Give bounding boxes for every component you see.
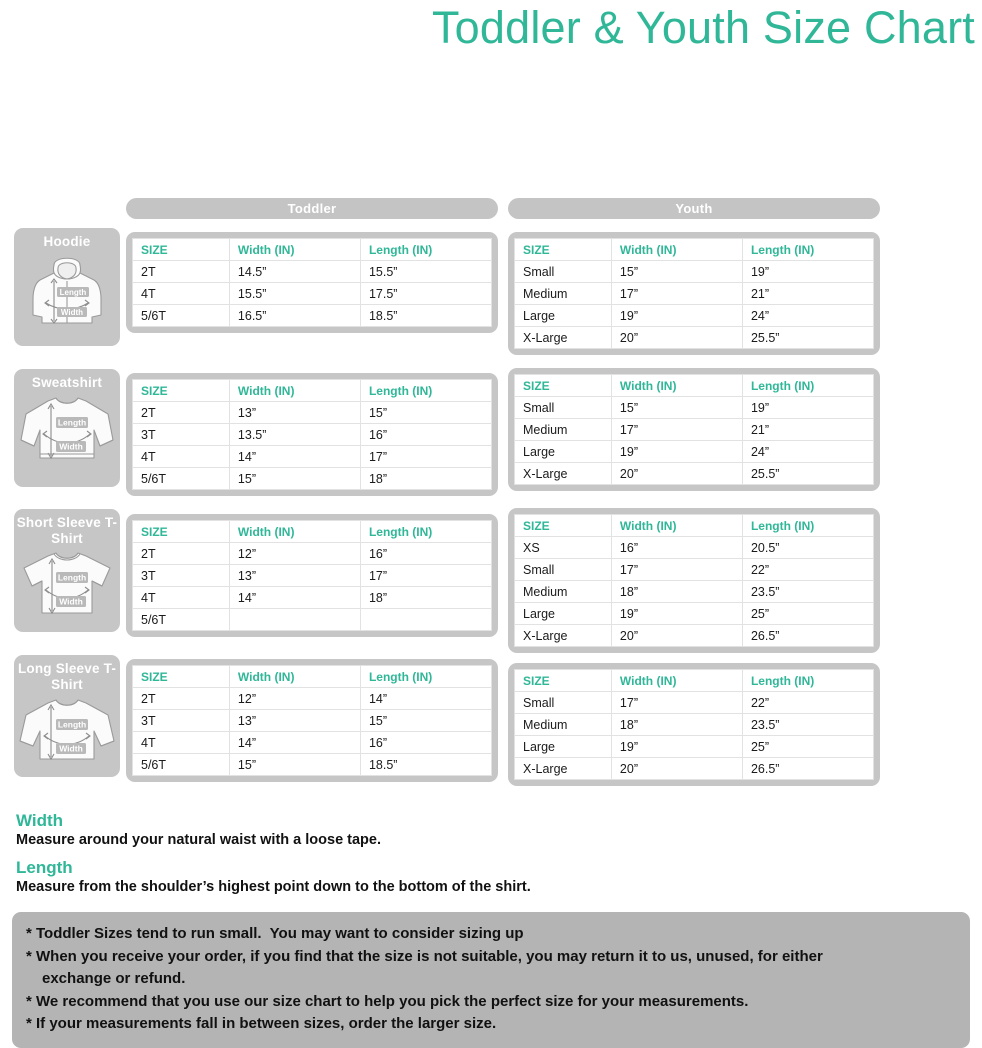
note-item: * We recommend that you use our size cha…: [26, 991, 956, 1014]
cell-length: 19”: [742, 261, 873, 283]
column-header-size: SIZE: [133, 380, 230, 402]
cell-width: 17”: [611, 559, 742, 581]
svg-text:Width: Width: [59, 744, 83, 754]
size-table-youth: SIZEWidth (IN)Length (IN)XS16”20.5”Small…: [514, 514, 874, 647]
column-header-size: SIZE: [133, 666, 230, 688]
cell-width: 15”: [229, 468, 360, 490]
table-row: 4T14”17”: [133, 446, 492, 468]
garment-tile: Long Sleeve T-Shirt Length Width: [14, 655, 120, 777]
column-header-width: Width (IN): [611, 239, 742, 261]
column-header-width: Width (IN): [229, 521, 360, 543]
table-row: Small17”22”: [515, 559, 874, 581]
table-row: Medium18”23.5”: [515, 581, 874, 603]
cell-size: Medium: [515, 714, 612, 736]
cell-width: 13.5”: [229, 424, 360, 446]
size-table-toddler: SIZEWidth (IN)Length (IN)2T14.5”15.5”4T1…: [132, 238, 492, 327]
cell-size: Large: [515, 736, 612, 758]
garment-tile: Sweatshirt Length Width: [14, 369, 120, 487]
cell-size: Large: [515, 441, 612, 463]
size-table-toddler: SIZEWidth (IN)Length (IN)2T13”15”3T13.5”…: [132, 379, 492, 490]
column-header-length: Length (IN): [742, 375, 873, 397]
cell-width: 19”: [611, 603, 742, 625]
size-table-youth: SIZEWidth (IN)Length (IN)Small15”19”Medi…: [514, 374, 874, 485]
cell-size: Large: [515, 603, 612, 625]
cell-size: XS: [515, 537, 612, 559]
page-title: Toddler & Youth Size Chart: [0, 2, 975, 54]
svg-text:Width: Width: [59, 597, 83, 607]
column-header-size: SIZE: [133, 239, 230, 261]
hoodie-icon: Length Width: [24, 251, 110, 327]
toddler-table-panel: SIZEWidth (IN)Length (IN)2T12”16”3T13”17…: [126, 514, 498, 637]
table-row: Medium17”21”: [515, 419, 874, 441]
youth-table-panel: SIZEWidth (IN)Length (IN)Small15”19”Medi…: [508, 368, 880, 491]
sweatshirt-icon: Length Width: [18, 392, 116, 464]
cell-size: 5/6T: [133, 468, 230, 490]
column-header-length: Length (IN): [742, 515, 873, 537]
cell-width: 14”: [229, 732, 360, 754]
svg-text:Width: Width: [61, 308, 83, 317]
cell-size: 4T: [133, 283, 230, 305]
table-row: Small15”19”: [515, 397, 874, 419]
cell-size: 4T: [133, 587, 230, 609]
cell-length: 17”: [360, 565, 491, 587]
table-row: 2T12”16”: [133, 543, 492, 565]
svg-text:Length: Length: [58, 418, 86, 428]
cell-width: 12”: [229, 688, 360, 710]
cell-length: 15”: [360, 710, 491, 732]
cell-length: [360, 609, 491, 631]
note-item: * When you receive your order, if you fi…: [26, 946, 956, 969]
cell-width: [229, 609, 360, 631]
cell-width: 16”: [611, 537, 742, 559]
cell-length: 23.5”: [742, 714, 873, 736]
table-row: Medium17”21”: [515, 283, 874, 305]
column-header-size: SIZE: [515, 670, 612, 692]
cell-width: 20”: [611, 758, 742, 780]
table-row: X-Large20”25.5”: [515, 327, 874, 349]
table-row: Large19”25”: [515, 603, 874, 625]
table-row: 3T13”15”: [133, 710, 492, 732]
column-header-length: Length (IN): [742, 670, 873, 692]
column-header-width: Width (IN): [229, 380, 360, 402]
cell-length: 21”: [742, 283, 873, 305]
cell-width: 19”: [611, 736, 742, 758]
cell-length: 22”: [742, 559, 873, 581]
cell-length: 25.5”: [742, 463, 873, 485]
cell-width: 18”: [611, 714, 742, 736]
cell-size: 4T: [133, 732, 230, 754]
cell-size: Medium: [515, 283, 612, 305]
cell-length: 24”: [742, 305, 873, 327]
size-table-youth: SIZEWidth (IN)Length (IN)Small17”22”Medi…: [514, 669, 874, 780]
column-header-width: Width (IN): [611, 670, 742, 692]
cell-size: 3T: [133, 710, 230, 732]
cell-size: Medium: [515, 419, 612, 441]
cell-length: 25”: [742, 603, 873, 625]
cell-width: 15”: [611, 397, 742, 419]
garment-name: Hoodie: [14, 232, 120, 250]
table-row: Small15”19”: [515, 261, 874, 283]
garment-name: Short Sleeve T-Shirt: [14, 513, 120, 547]
column-header-width: Width (IN): [229, 666, 360, 688]
column-header-width: Width (IN): [611, 515, 742, 537]
cell-width: 14”: [229, 587, 360, 609]
cell-size: Medium: [515, 581, 612, 603]
column-header-size: SIZE: [515, 515, 612, 537]
garment-tile: Hoodie Length Width: [14, 228, 120, 346]
table-row: Large19”24”: [515, 305, 874, 327]
table-row: 5/6T16.5”18.5”: [133, 305, 492, 327]
column-header-width: Width (IN): [611, 375, 742, 397]
garment-tile: Short Sleeve T-Shirt Length Width: [14, 509, 120, 632]
cell-length: 18”: [360, 468, 491, 490]
cell-size: 5/6T: [133, 305, 230, 327]
table-row: X-Large20”26.5”: [515, 625, 874, 647]
table-row: XS16”20.5”: [515, 537, 874, 559]
cell-length: 16”: [360, 543, 491, 565]
garment-name: Long Sleeve T-Shirt: [14, 659, 120, 693]
cell-size: 5/6T: [133, 754, 230, 776]
cell-width: 16.5”: [229, 305, 360, 327]
cell-width: 13”: [229, 402, 360, 424]
size-table-toddler: SIZEWidth (IN)Length (IN)2T12”14”3T13”15…: [132, 665, 492, 776]
table-row: Large19”25”: [515, 736, 874, 758]
cell-size: X-Large: [515, 327, 612, 349]
svg-text:Width: Width: [59, 442, 83, 452]
cell-length: 23.5”: [742, 581, 873, 603]
cell-length: 24”: [742, 441, 873, 463]
column-header-length: Length (IN): [360, 521, 491, 543]
cell-length: 15.5”: [360, 261, 491, 283]
cell-length: 18.5”: [360, 754, 491, 776]
column-header-length: Length (IN): [360, 380, 491, 402]
cell-size: Small: [515, 397, 612, 419]
cell-width: 17”: [611, 692, 742, 714]
table-row: 3T13.5”16”: [133, 424, 492, 446]
garment-name: Sweatshirt: [14, 373, 120, 391]
cell-width: 15”: [229, 754, 360, 776]
column-header-width: Width (IN): [229, 239, 360, 261]
cell-size: Small: [515, 692, 612, 714]
definition-term: Length: [16, 857, 836, 878]
cell-length: 19”: [742, 397, 873, 419]
cell-width: 20”: [611, 463, 742, 485]
cell-length: 26.5”: [742, 625, 873, 647]
cell-length: 22”: [742, 692, 873, 714]
cell-width: 15”: [611, 261, 742, 283]
measurement-definitions: Width Measure around your natural waist …: [16, 810, 836, 904]
footer-notes: * Toddler Sizes tend to run small. You m…: [12, 912, 970, 1048]
cell-size: 5/6T: [133, 609, 230, 631]
column-header-length: Length (IN): [360, 239, 491, 261]
cell-length: 18.5”: [360, 305, 491, 327]
size-table-youth: SIZEWidth (IN)Length (IN)Small15”19”Medi…: [514, 238, 874, 349]
svg-text:Length: Length: [58, 720, 86, 730]
cell-size: 2T: [133, 261, 230, 283]
cell-length: 17.5”: [360, 283, 491, 305]
table-row: 2T12”14”: [133, 688, 492, 710]
youth-table-panel: SIZEWidth (IN)Length (IN)Small15”19”Medi…: [508, 232, 880, 355]
cell-width: 14.5”: [229, 261, 360, 283]
table-row: 5/6T15”18.5”: [133, 754, 492, 776]
toddler-table-panel: SIZEWidth (IN)Length (IN)2T13”15”3T13.5”…: [126, 373, 498, 496]
column-header-size: SIZE: [515, 375, 612, 397]
cell-width: 14”: [229, 446, 360, 468]
cell-length: 16”: [360, 424, 491, 446]
cell-length: 18”: [360, 587, 491, 609]
cell-size: Small: [515, 261, 612, 283]
note-item: * Toddler Sizes tend to run small. You m…: [26, 923, 956, 946]
cell-size: 2T: [133, 688, 230, 710]
youth-table-panel: SIZEWidth (IN)Length (IN)XS16”20.5”Small…: [508, 508, 880, 653]
table-row: X-Large20”26.5”: [515, 758, 874, 780]
cell-length: 15”: [360, 402, 491, 424]
cell-size: X-Large: [515, 625, 612, 647]
column-header-length: Length (IN): [742, 239, 873, 261]
table-row: 2T13”15”: [133, 402, 492, 424]
table-row: Medium18”23.5”: [515, 714, 874, 736]
cell-length: 17”: [360, 446, 491, 468]
cell-width: 13”: [229, 565, 360, 587]
cell-width: 19”: [611, 441, 742, 463]
column-header-length: Length (IN): [360, 666, 491, 688]
cell-size: Small: [515, 559, 612, 581]
toddler-table-panel: SIZEWidth (IN)Length (IN)2T12”14”3T13”15…: [126, 659, 498, 782]
cell-width: 13”: [229, 710, 360, 732]
cell-length: 20.5”: [742, 537, 873, 559]
size-table-toddler: SIZEWidth (IN)Length (IN)2T12”16”3T13”17…: [132, 520, 492, 631]
table-row: 4T15.5”17.5”: [133, 283, 492, 305]
table-row: Small17”22”: [515, 692, 874, 714]
table-row: 5/6T15”18”: [133, 468, 492, 490]
note-item: * If your measurements fall in between s…: [26, 1013, 956, 1036]
svg-text:Length: Length: [58, 573, 86, 583]
cell-size: 3T: [133, 424, 230, 446]
group-header-youth: Youth: [508, 198, 880, 219]
table-row: 5/6T: [133, 609, 492, 631]
cell-size: 3T: [133, 565, 230, 587]
cell-length: 14”: [360, 688, 491, 710]
definition-width: Width Measure around your natural waist …: [16, 810, 836, 850]
table-row: Large19”24”: [515, 441, 874, 463]
definition-description: Measure from the shoulder’s highest poin…: [16, 878, 836, 897]
cell-width: 15.5”: [229, 283, 360, 305]
table-row: 2T14.5”15.5”: [133, 261, 492, 283]
cell-size: 4T: [133, 446, 230, 468]
cell-size: X-Large: [515, 463, 612, 485]
cell-size: 2T: [133, 543, 230, 565]
cell-width: 17”: [611, 419, 742, 441]
cell-length: 25”: [742, 736, 873, 758]
short-sleeve-tshirt-icon: Length Width: [18, 548, 116, 618]
definition-length: Length Measure from the shoulder’s highe…: [16, 857, 836, 897]
cell-size: Large: [515, 305, 612, 327]
cell-size: 2T: [133, 402, 230, 424]
cell-width: 20”: [611, 327, 742, 349]
cell-width: 12”: [229, 543, 360, 565]
group-header-toddler: Toddler: [126, 198, 498, 219]
toddler-table-panel: SIZEWidth (IN)Length (IN)2T14.5”15.5”4T1…: [126, 232, 498, 333]
cell-width: 18”: [611, 581, 742, 603]
definition-term: Width: [16, 810, 836, 831]
table-row: 4T14”16”: [133, 732, 492, 754]
cell-length: 25.5”: [742, 327, 873, 349]
note-item: exchange or refund.: [26, 968, 956, 991]
cell-size: X-Large: [515, 758, 612, 780]
definition-description: Measure around your natural waist with a…: [16, 831, 836, 850]
cell-width: 20”: [611, 625, 742, 647]
column-header-size: SIZE: [515, 239, 612, 261]
cell-length: 16”: [360, 732, 491, 754]
cell-length: 21”: [742, 419, 873, 441]
column-header-size: SIZE: [133, 521, 230, 543]
cell-width: 17”: [611, 283, 742, 305]
table-row: X-Large20”25.5”: [515, 463, 874, 485]
table-row: 3T13”17”: [133, 565, 492, 587]
youth-table-panel: SIZEWidth (IN)Length (IN)Small17”22”Medi…: [508, 663, 880, 786]
cell-width: 19”: [611, 305, 742, 327]
long-sleeve-tshirt-icon: Length Width: [18, 694, 116, 764]
table-row: 4T14”18”: [133, 587, 492, 609]
svg-text:Length: Length: [60, 288, 87, 297]
cell-length: 26.5”: [742, 758, 873, 780]
